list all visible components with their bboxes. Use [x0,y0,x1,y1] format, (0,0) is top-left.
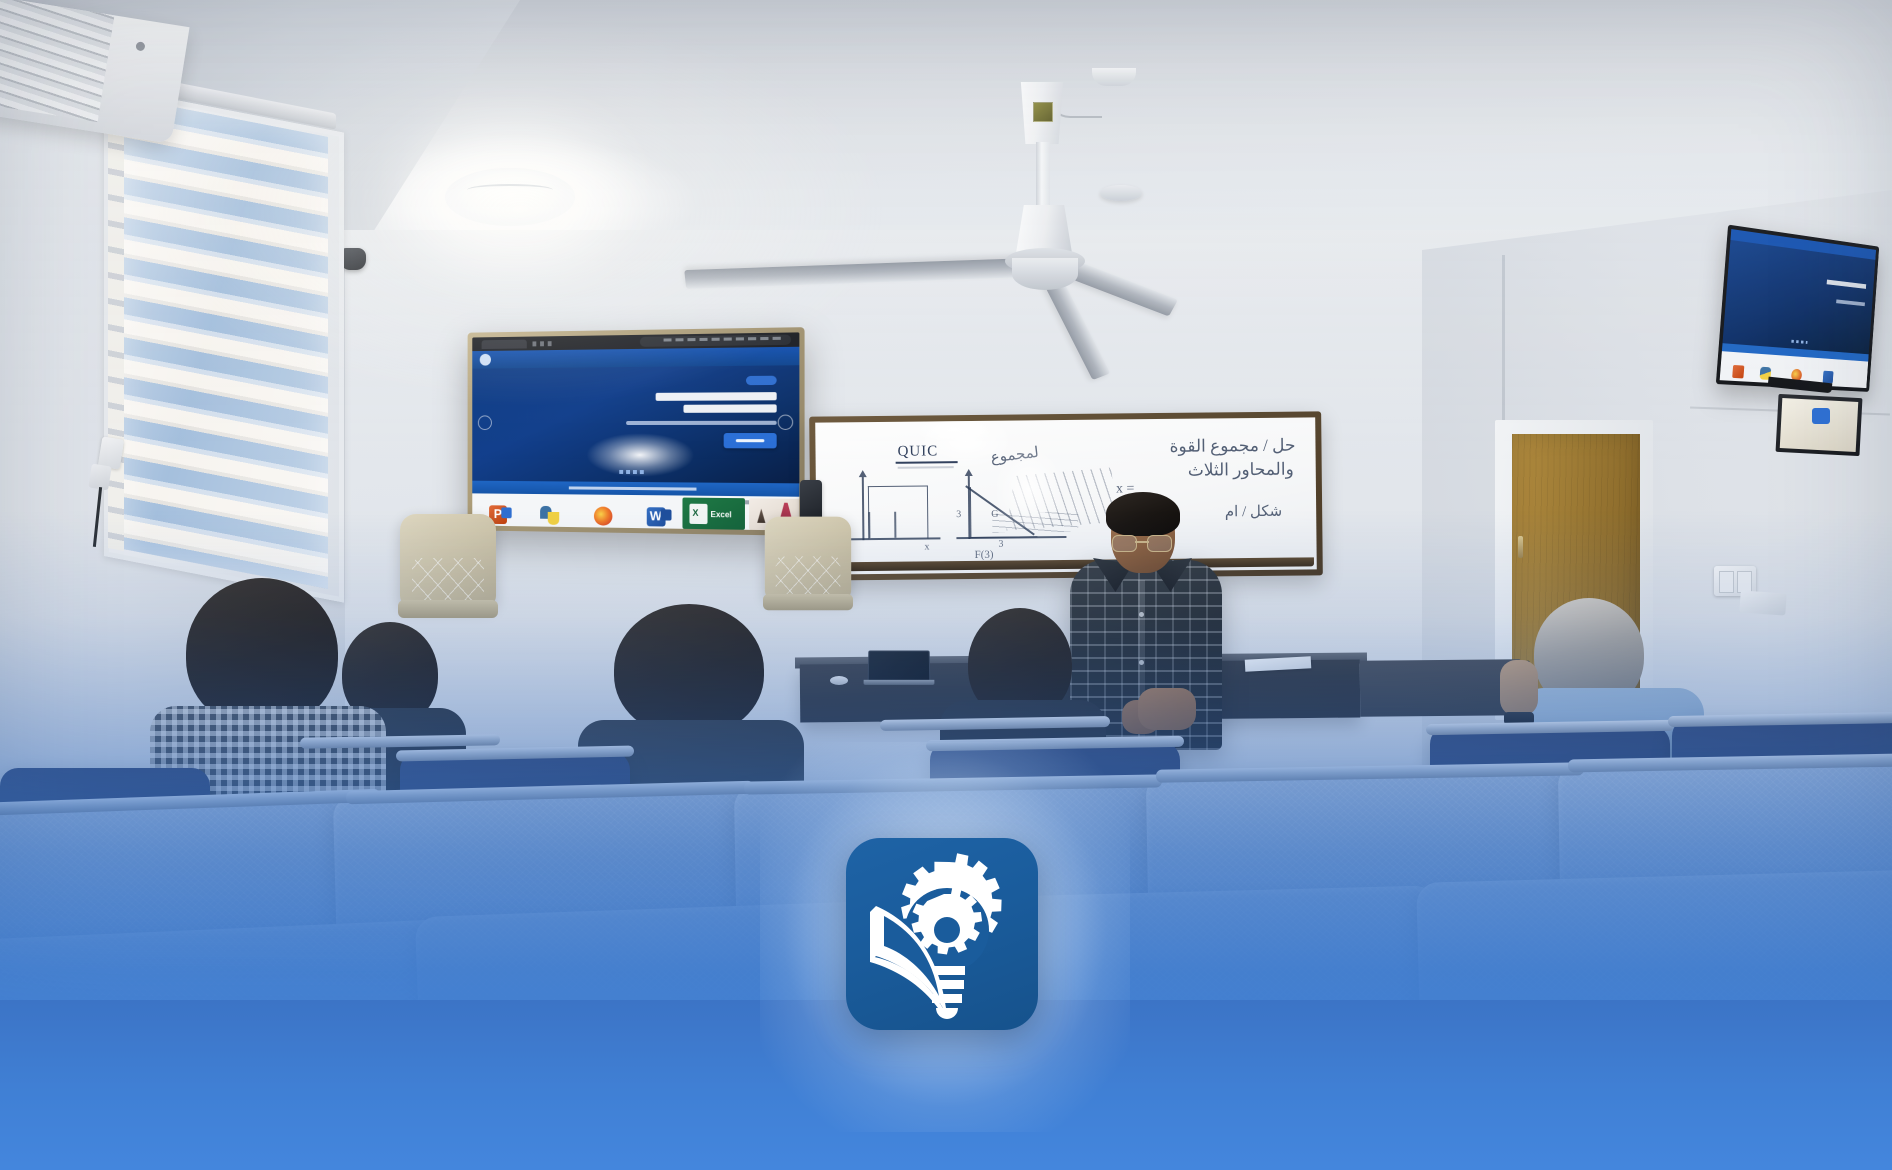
site-hero-banner-right [1723,240,1876,354]
whiteboard-arabic-right-3: شكل / ام [1225,502,1283,522]
ceiling-light-fixture [445,168,575,226]
diagram-dimension-left: 3 [956,509,961,520]
fan-downrod [1036,142,1050,210]
whiteboard-glare [993,446,1064,533]
presenter-desk-right [1360,659,1520,716]
whiteboard-arabic-right-1: حل / مجموع القوة [1169,436,1295,457]
diagram-function-label: F(3) [975,549,994,561]
blind-side-edge [108,96,124,551]
carousel-next-icon[interactable] [778,415,793,430]
education-technology-logo[interactable] [846,838,1038,1030]
whiteboard: QUIC لمجموع G 3 3 x F(3) [809,411,1323,580]
auditorium-seat-cushion-front[interactable] [0,919,466,1170]
whiteboard-title: QUIC [897,443,938,460]
blind-light-glare [118,96,328,589]
presenter-hair [1106,492,1180,536]
office-chair-seat [763,594,853,610]
office-chair-quilting [412,558,484,602]
classroom-photo-scene: X [0,0,1892,1170]
office-chair-seat [398,600,498,618]
python-icon[interactable] [540,506,559,525]
presenter-shirt-button [1139,660,1144,665]
hero-subtext-right [1836,299,1865,306]
firefox-icon[interactable] [594,507,612,526]
whiteboard-title-underline-2 [898,466,954,468]
whiteboard-surface: QUIC لمجموع G 3 3 x F(3) [815,417,1317,574]
diagram-axis-label-x: x [924,541,929,552]
laptop[interactable] [868,651,931,682]
office-chair[interactable] [400,514,496,606]
hero-headline-right [1827,280,1867,289]
presenter-eyeglasses-bridge [1135,541,1149,543]
site-hero-banner [472,365,799,483]
carousel-dots-right [1791,340,1807,344]
ac-vent-louvers [0,0,114,122]
smoke-detector [1100,185,1142,201]
powerpoint-icon-right [1732,365,1744,379]
carousel-prev-icon[interactable] [478,415,492,430]
whiteboard-title-underline [896,461,958,464]
diagram-tick [868,512,870,538]
hero-badge [746,376,777,385]
wall-mounted-tv-right[interactable] [1716,225,1879,392]
fan-dome [1012,258,1078,290]
diagram-y-axis [862,474,864,540]
presenter-shirt-button [1139,612,1144,617]
excel-icon-letter: X [692,508,698,518]
wall-picture-frame [1776,394,1863,456]
diagram-dimension-bottom: 3 [998,539,1003,550]
auditorium-seat-cushion-front[interactable] [1416,869,1892,1170]
inner-gear-hole [934,917,960,943]
fan-motor-housing [1016,205,1072,253]
carousel-dots[interactable] [619,470,645,474]
hero-subtext [626,421,777,425]
wall-mounted-tv-left[interactable]: X [468,327,805,536]
tv-screen[interactable]: X [472,332,799,530]
whiteboard-arabic-right-2: والمحاور الثلاث [1188,460,1294,481]
door-handle[interactable] [1518,536,1523,558]
audience-hand [1500,660,1538,716]
computer-mouse[interactable] [830,676,848,685]
presenter-eyeglasses [1112,535,1172,551]
audience-head [614,604,764,736]
tv-screen-right[interactable] [1720,229,1876,388]
word-icon-accent [661,509,672,520]
diagram-rectangle [868,485,929,539]
light-switch-plate-secondary[interactable] [1739,590,1786,615]
office-chair[interactable] [765,517,851,600]
site-logo-icon [480,354,491,366]
powerpoint-icon-accent [501,507,511,518]
laptop-base [864,680,935,685]
laptop-screen [868,651,931,682]
diagram-tick [894,512,896,538]
wall-frame-badge [1812,408,1830,424]
hero-headline-line1 [656,392,777,401]
ac-indicator-led [135,41,145,51]
whiteboard-glare-top [911,417,997,445]
presenter-hand-right [1138,688,1196,730]
hero-headline-line2 [683,404,776,412]
excel-card[interactable]: X [682,498,744,530]
hero-cta-button[interactable] [724,433,777,448]
office-chair-quilting [776,556,841,596]
browser-tab[interactable] [482,340,527,349]
fan-brand-label [1033,102,1053,122]
browser-tab-controls[interactable] [532,341,553,346]
